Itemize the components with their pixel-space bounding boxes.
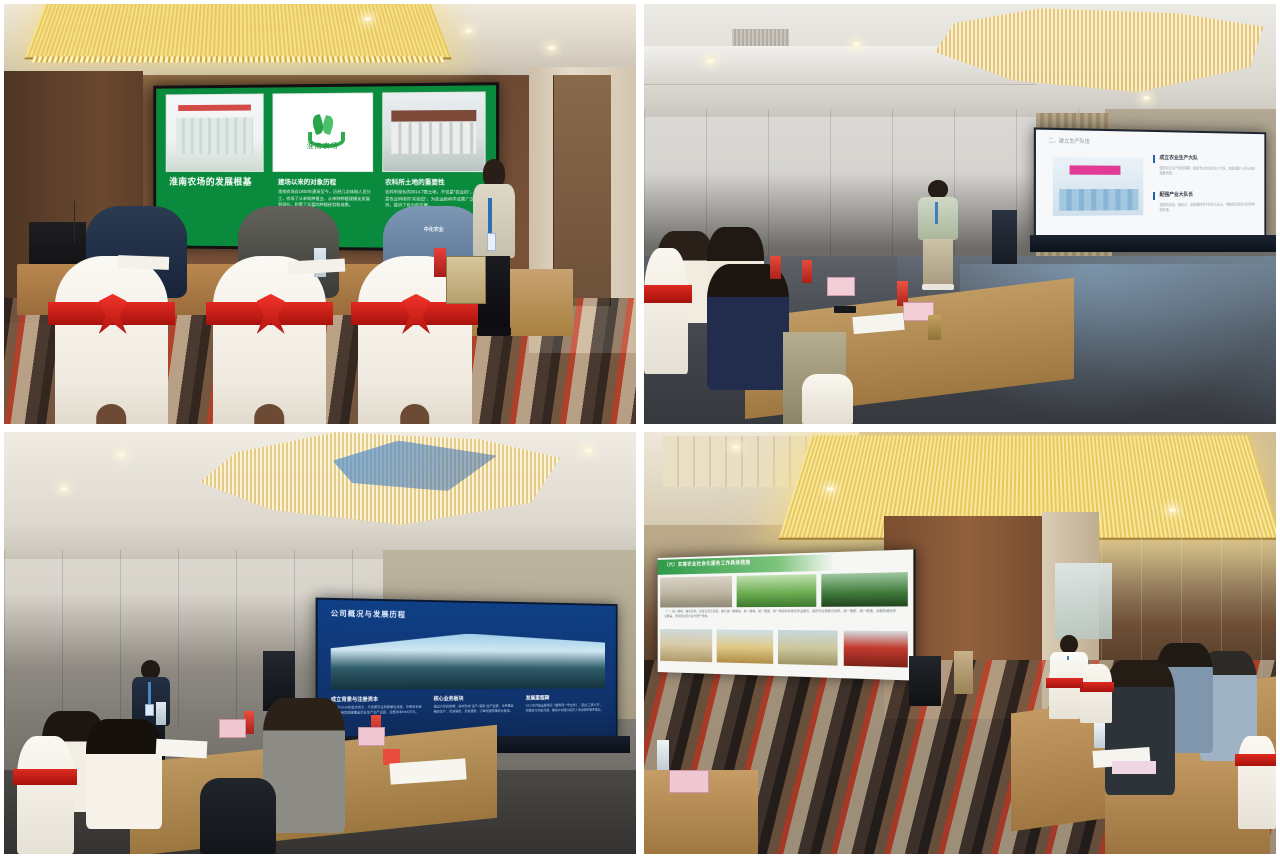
presenter-trousers <box>923 239 953 285</box>
slide-photo-building <box>166 94 263 172</box>
slide-section-heading: 配强产业大队长 <box>1159 191 1193 198</box>
ceiling-light-icon <box>827 487 834 491</box>
banquet-chair <box>213 256 327 424</box>
speaker-cabinet <box>992 210 1017 265</box>
banquet-chair <box>17 736 74 854</box>
slide-column-heading: 成立背景与注册资本 <box>331 695 423 703</box>
meeting-room-scene-1: 淮南农场 淮南农场的发展根基 建场以来的对象历程 淮南农场自1950年建场至今，… <box>4 4 636 424</box>
ceiling-light-icon <box>364 17 371 21</box>
slide-column-body: 2021年开始全面落实《国务院一号文件》，突出"三再兴农"、农服多方共赢为题，推… <box>526 702 605 713</box>
water-bottle <box>802 260 812 283</box>
photo-panel-top-left: 淮南农场 淮南农场的发展根基 建场以来的对象历程 淮南农场自1950年建场至今，… <box>4 4 636 424</box>
slide-column-heading: 核心业务板块 <box>434 694 515 702</box>
slide-photo-mountain-lake <box>331 632 605 690</box>
slide-photo-team-meeting <box>1053 157 1143 216</box>
mic-stand-icon <box>74 201 75 243</box>
ceiling-light-icon <box>118 453 125 457</box>
slide-column-heading: 发展里程碑 <box>526 694 605 701</box>
slide-column-body: 经过六年的发展，基本形成"生产+销售"全产业链，业务覆盖粮食生产、农资销售、农机… <box>434 703 515 714</box>
paper-document <box>155 739 206 758</box>
attendee-seated <box>1105 660 1175 795</box>
presenter-shoes <box>922 284 954 289</box>
screen-stand <box>1030 235 1276 252</box>
slide-body-text: （一）统一耕种：整合农机、农技与农艺资源，推行统一耕整地、统一播种、统一植保、统… <box>664 609 899 621</box>
name-card <box>669 770 709 793</box>
presenter-person <box>916 180 960 289</box>
slide-logo-huainan-farm: 淮南农场 <box>273 93 373 172</box>
name-card <box>358 727 385 746</box>
slide-title: 二、建立生产队伍 <box>1048 137 1090 145</box>
attendee-seated <box>707 264 789 390</box>
led-screen-white-slide: 二、建立生产队伍 成立农业生产大队 围绕农业生产经营需要，组建专业化农业生产大队… <box>1034 127 1266 245</box>
slide-photo-row-2 <box>660 629 908 668</box>
slide-photo-red-tractor <box>843 631 908 668</box>
ceiling-light-icon <box>548 46 555 50</box>
slide-section-body: 围绕农业生产经营需要，组建专业化农业生产大队，统筹调配人员与农机装备资源。 <box>1159 166 1255 177</box>
red-bow-icon <box>1078 682 1115 693</box>
banquet-chair <box>644 248 688 374</box>
slide-image-row: 淮南农场 <box>166 92 486 172</box>
red-bow-icon <box>48 302 175 325</box>
photo-collage: 淮南农场 淮南农场的发展根基 建场以来的对象历程 淮南农场自1950年建场至今，… <box>0 0 1280 858</box>
slide-title: 公司概况与发展历程 <box>331 608 406 620</box>
water-bottle <box>1094 723 1105 748</box>
red-bow-icon <box>644 285 692 303</box>
name-card <box>827 277 854 296</box>
slide-photo-farmhouse <box>383 92 486 172</box>
slide-photo-rice-field <box>717 630 773 665</box>
table-sign <box>446 256 486 304</box>
slide-column-heading: 农科所土地的重要性 <box>385 176 482 186</box>
water-bottle <box>657 740 670 770</box>
red-bow-icon <box>1046 678 1083 689</box>
slide-heading: 淮南农场的发展根基 <box>170 176 266 188</box>
presenter-shoes <box>477 327 511 336</box>
lanyard-icon <box>148 682 150 706</box>
thermos-cup <box>928 315 941 340</box>
photo-panel-bottom-left: 公司概况与发展历程 成立背景与注册资本 公司于2018年依法成立，与合肥农业科研… <box>4 432 636 854</box>
red-bow-icon <box>1235 754 1276 766</box>
slide-title-banner: （六）实施农业社会化服务工作具体措施 <box>658 555 835 576</box>
water-bottle <box>770 256 780 279</box>
meeting-room-scene-2: 二、建立生产队伍 成立农业生产大队 围绕农业生产经营需要，组建专业化农业生产大队… <box>644 4 1276 424</box>
paper-document <box>118 255 169 269</box>
banquet-chair <box>1049 660 1081 719</box>
banquet-chair <box>55 256 169 424</box>
photo-panel-top-right: 二、建立生产队伍 成立农业生产大队 围绕农业生产经营需要，组建专业化农业生产大队… <box>644 4 1276 424</box>
attendee-seated <box>86 719 162 829</box>
slide-section-heading: 成立农业生产大队 <box>1159 154 1197 161</box>
lanyard-icon <box>488 198 491 237</box>
ceiling-light-icon <box>707 59 714 63</box>
banquet-chair <box>1080 664 1112 723</box>
ceiling-vent <box>732 29 789 46</box>
slide-photo-dense-crop <box>821 572 908 607</box>
ceiling-light-icon <box>61 487 68 491</box>
slide-photo-field-bales <box>660 629 712 662</box>
meeting-room-scene-3: 公司概况与发展历程 成立背景与注册资本 公司于2018年依法成立，与合肥农业科研… <box>4 432 636 854</box>
speaker-cabinet <box>909 656 941 707</box>
red-bow-icon <box>206 302 333 325</box>
water-bottle <box>434 248 447 277</box>
banquet-chair <box>802 374 853 424</box>
ceiling-light-icon <box>732 445 739 449</box>
slide-title: （六）实施农业社会化服务工作具体措施 <box>664 560 750 569</box>
red-bow-icon <box>351 302 478 325</box>
ceiling-light-icon <box>853 42 860 46</box>
attendee-seated <box>200 778 276 854</box>
name-card <box>219 719 246 738</box>
gold-chandelier-icon <box>24 4 452 59</box>
led-screen-field-photos: （六）实施农业社会化服务工作具体措施 （一）统一耕种：整合农机、农技与农艺资源，… <box>658 550 916 682</box>
slide-photo-cotton-field <box>660 576 732 607</box>
floor-sign <box>954 651 973 693</box>
water-bottle <box>156 702 166 725</box>
red-bow-icon <box>13 769 78 786</box>
meeting-room-scene-4: （六）实施农业社会化服务工作具体措施 （一）统一耕种：整合农机、农技与农艺资源，… <box>644 432 1276 854</box>
slide-column-3: 发展里程碑 2021年开始全面落实《国务院一号文件》，突出"三再兴农"、农服多方… <box>526 694 605 736</box>
badge-icon <box>487 233 496 251</box>
slide-section-body: 选配有经验、懂技术、善管理的骨干担任大队长，明确岗位职责与绩效考核标准。 <box>1159 202 1255 213</box>
phone-device <box>834 306 856 312</box>
slide-column-heading: 建场以来的对象历程 <box>278 176 372 186</box>
slide-photo-wheat-field <box>778 630 838 666</box>
presenter-shirt <box>918 197 959 241</box>
slide-photo-row-1 <box>660 572 908 607</box>
photo-panel-bottom-right: （六）实施农业社会化服务工作具体措施 （一）统一耕种：整合农机、农技与农艺资源，… <box>644 432 1276 854</box>
presenter-person <box>472 159 516 335</box>
secondary-screen <box>1055 563 1112 639</box>
shirt-logo-text: 中化农业 <box>393 226 474 233</box>
slide-photo-green-crop <box>737 574 816 607</box>
banquet-chair <box>1238 736 1276 829</box>
badge-icon <box>145 704 154 716</box>
led-screen-blue-slide: 公司概况与发展历程 成立背景与注册资本 公司于2018年依法成立，与合肥农业科研… <box>316 597 618 747</box>
name-card <box>1112 761 1156 774</box>
slide-logo-text: 淮南农场 <box>300 141 345 151</box>
lanyard-icon <box>935 202 938 224</box>
leaf-icon: 淮南农场 <box>300 115 345 150</box>
